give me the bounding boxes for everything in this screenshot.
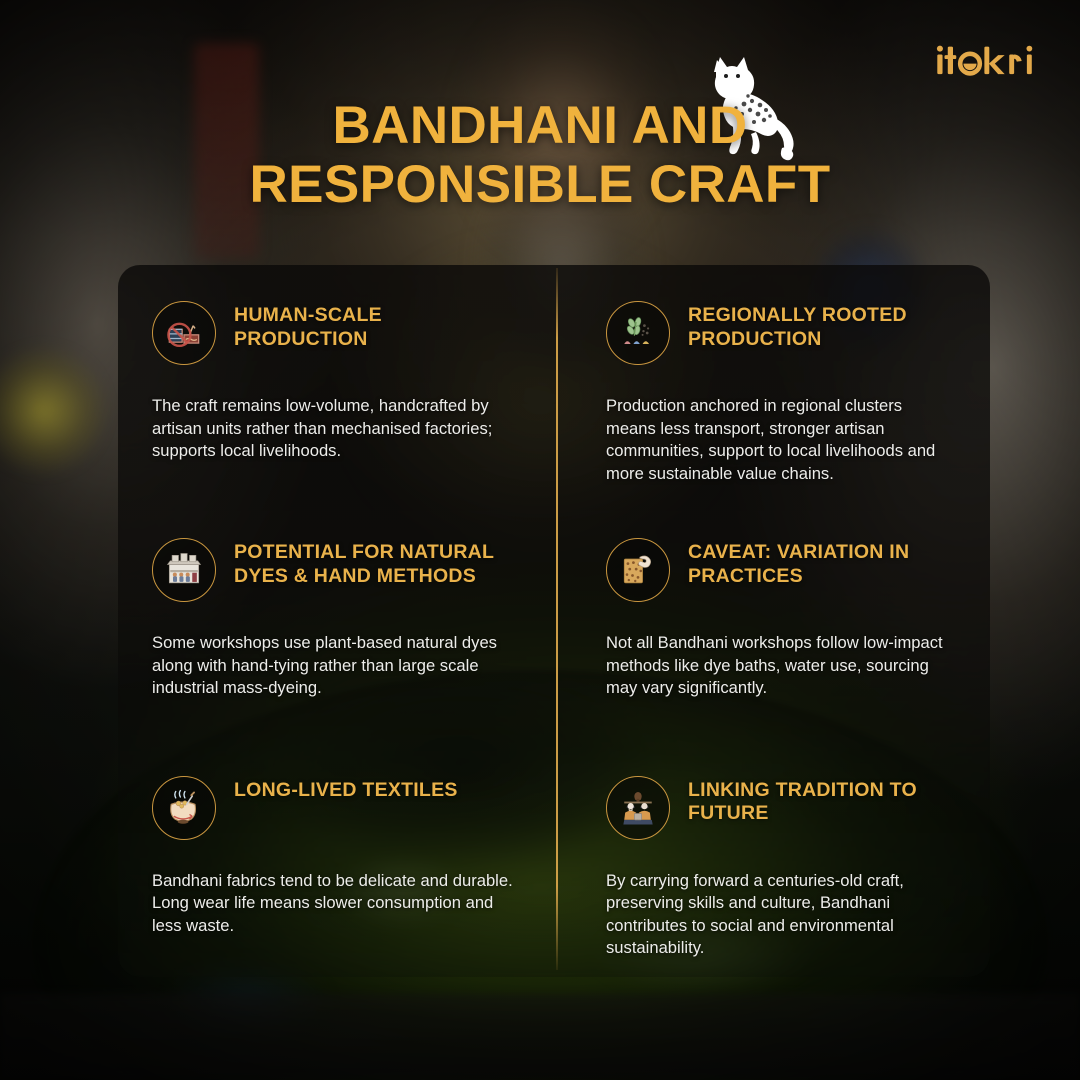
itokri-logo (934, 38, 1040, 84)
steaming-dye-pot-icon (152, 776, 216, 840)
card-natural-dyes-hand-methods: POTENTIAL FOR NATURAL DYES & HAND METHOD… (118, 502, 554, 739)
card-body: Production anchored in regional clusters… (606, 395, 956, 485)
card-regionally-rooted-production: REGIONALLY ROOTED PRODUCTION Production … (554, 265, 990, 502)
hand-holding-fabric-icon (606, 538, 670, 602)
card-body: The craft remains low-volume, handcrafte… (152, 395, 520, 463)
card-caveat-variation-in-practices: CAVEAT: VARIATION IN PRACTICES Not all B… (554, 502, 990, 739)
card-header: POTENTIAL FOR NATURAL DYES & HAND METHOD… (152, 536, 520, 602)
card-header: HUMAN-SCALE PRODUCTION (152, 299, 520, 365)
card-body: Bandhani fabrics tend to be delicate and… (152, 870, 520, 938)
card-title: REGIONALLY ROOTED PRODUCTION (688, 299, 956, 352)
cards-grid: HUMAN-SCALE PRODUCTION The craft remains… (118, 265, 990, 977)
infographic-poster: BANDHANI AND RESPONSIBLE CRAFT (0, 0, 1080, 1080)
page-title: BANDHANI AND RESPONSIBLE CRAFT (0, 96, 1080, 215)
card-human-scale-production: HUMAN-SCALE PRODUCTION The craft remains… (118, 265, 554, 502)
card-body: Some workshops use plant-based natural d… (152, 632, 520, 700)
natural-dye-leaves-icon (606, 301, 670, 365)
no-factory-icon (152, 301, 216, 365)
card-title: LONG-LIVED TEXTILES (234, 774, 458, 803)
card-title: HUMAN-SCALE PRODUCTION (234, 299, 504, 352)
card-title: CAVEAT: VARIATION IN PRACTICES (688, 536, 956, 589)
two-artisans-icon (606, 776, 670, 840)
card-body: Not all Bandhani workshops follow low-im… (606, 632, 956, 700)
card-header: LONG-LIVED TEXTILES (152, 774, 520, 840)
card-body: By carrying forward a centuries-old craf… (606, 870, 956, 960)
card-header: CAVEAT: VARIATION IN PRACTICES (606, 536, 956, 602)
card-header: LINKING TRADITION TO FUTURE (606, 774, 956, 840)
card-title: POTENTIAL FOR NATURAL DYES & HAND METHOD… (234, 536, 504, 589)
card-long-lived-textiles: LONG-LIVED TEXTILES Bandhani fabrics ten… (118, 740, 554, 977)
title-line-1: BANDHANI AND (332, 96, 747, 155)
card-linking-tradition-to-future: LINKING TRADITION TO FUTURE By carrying … (554, 740, 990, 977)
card-title: LINKING TRADITION TO FUTURE (688, 774, 956, 827)
artisan-workshop-icon (152, 538, 216, 602)
title-line-2: RESPONSIBLE CRAFT (120, 155, 960, 214)
card-header: REGIONALLY ROOTED PRODUCTION (606, 299, 956, 365)
